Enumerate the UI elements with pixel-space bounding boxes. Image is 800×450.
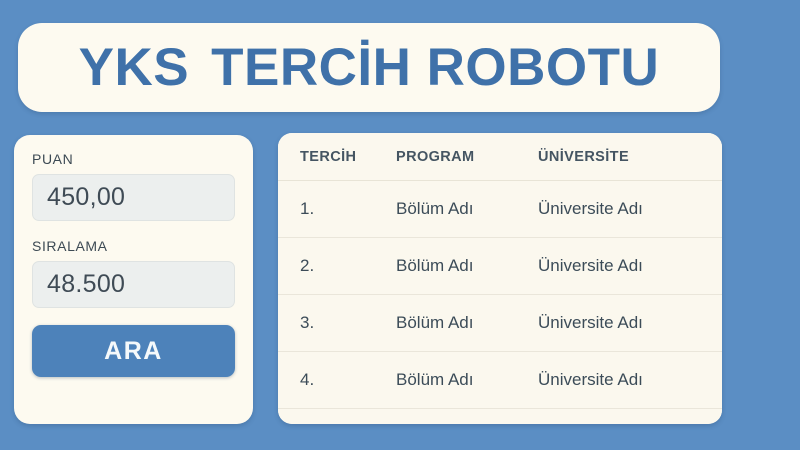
search-button[interactable]: ARA [32,325,235,377]
cell-universite: Üniversite Adı [538,256,722,276]
table-row[interactable]: 3. Bölüm Adı Üniversite Adı [278,295,722,352]
table-empty-row [278,409,722,424]
rank-field-label: SIRALAMA [32,238,235,254]
results-table-panel: TERCİH PROGRAM ÜNİVERSİTE 1. Bölüm Adı Ü… [278,133,722,424]
cell-universite: Üniversite Adı [538,313,722,333]
app-title-banner: YKS TERCİH ROBOTU [18,23,720,112]
page-title: YKS TERCİH ROBOTU [79,41,660,94]
cell-program: Bölüm Adı [396,199,538,219]
column-header-tercih: TERCİH [278,149,396,165]
cell-program: Bölüm Adı [396,256,538,276]
column-header-universite: ÜNİVERSİTE [538,149,722,165]
cell-tercih: 3. [278,313,396,333]
page-title-main: YKS [79,41,189,94]
rank-input[interactable]: 48.500 [32,261,235,308]
score-field-label: PUAN [32,151,235,167]
cell-universite: Üniversite Adı [538,199,722,219]
table-row[interactable]: 4. Bölüm Adı Üniversite Adı [278,352,722,409]
table-header-row: TERCİH PROGRAM ÜNİVERSİTE [278,133,722,181]
cell-tercih: 2. [278,256,396,276]
cell-tercih: 1. [278,199,396,219]
column-header-program: PROGRAM [396,149,538,165]
table-row[interactable]: 2. Bölüm Adı Üniversite Adı [278,238,722,295]
cell-program: Bölüm Adı [396,313,538,333]
search-form-panel: PUAN 450,00 SIRALAMA 48.500 ARA [14,135,253,424]
table-row[interactable]: 1. Bölüm Adı Üniversite Adı [278,181,722,238]
score-input[interactable]: 450,00 [32,174,235,221]
cell-program: Bölüm Adı [396,370,538,390]
cell-tercih: 4. [278,370,396,390]
page-title-rest: TERCİH ROBOTU [211,41,659,94]
cell-universite: Üniversite Adı [538,370,722,390]
